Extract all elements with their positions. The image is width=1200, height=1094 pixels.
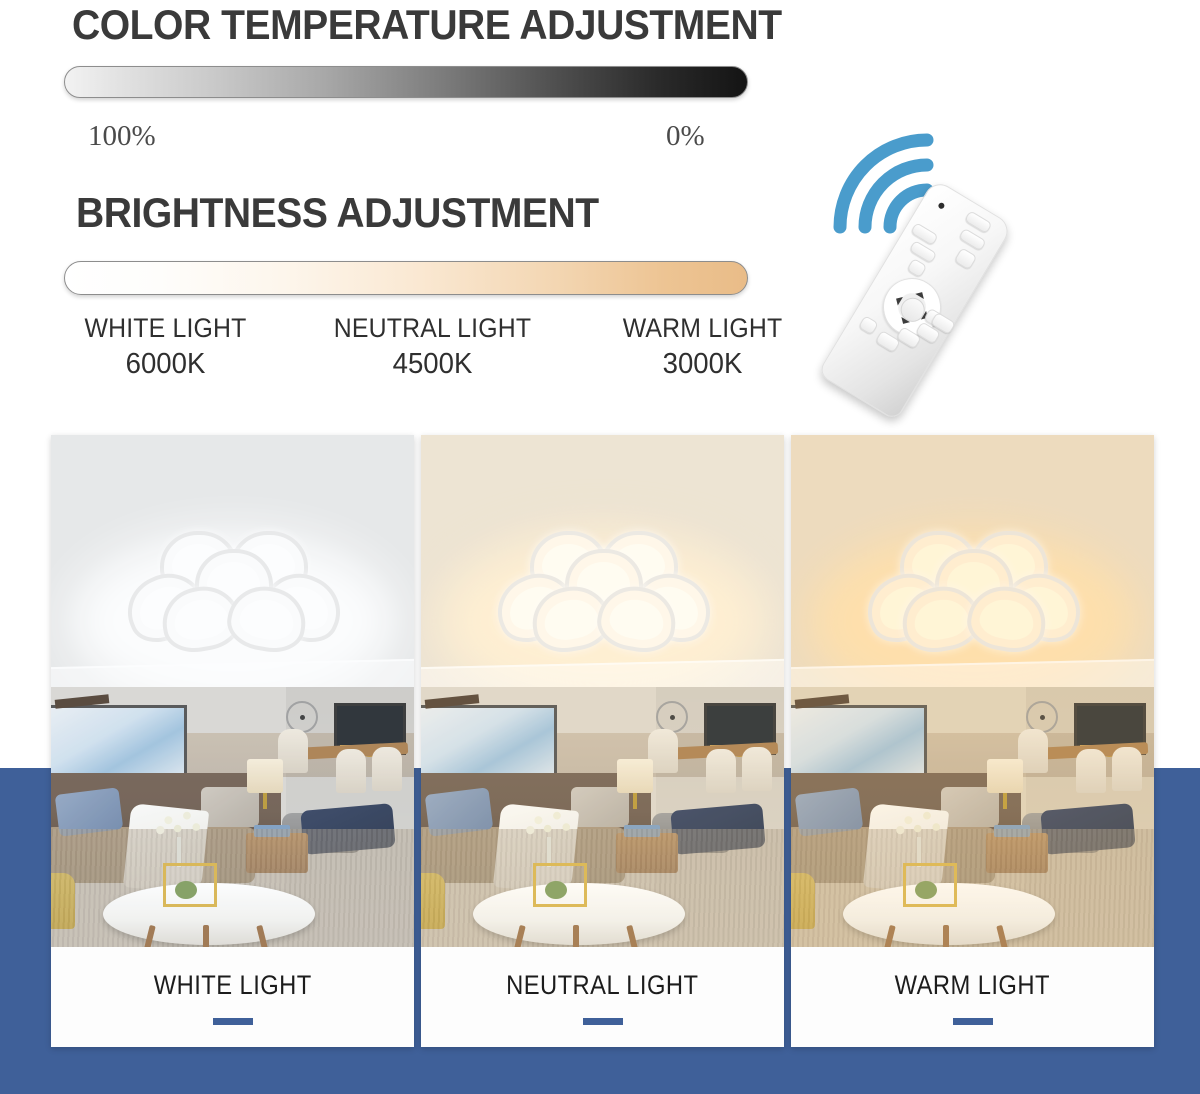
dining-chair — [336, 749, 366, 793]
dining-chair — [706, 749, 736, 793]
coffee-table-legs — [877, 925, 1017, 947]
card-caption-warm: WARM LIGHT — [791, 947, 1154, 1047]
light-label-neutral-name: NEUTRAL LIGHT — [315, 313, 550, 344]
caption-underline — [583, 1018, 623, 1025]
light-label-warm: WARM LIGHT 3000K — [600, 313, 805, 381]
flower-ceiling-lamp — [488, 531, 718, 659]
light-label-white: WHITE LIGHT 6000K — [58, 313, 273, 381]
flower-vase — [891, 805, 949, 867]
card-caption-neutral: NEUTRAL LIGHT — [421, 947, 784, 1047]
dining-set — [1018, 729, 1148, 807]
room-interior — [791, 687, 1154, 947]
table-lamp — [247, 759, 283, 793]
light-mode-card-neutral[interactable]: NEUTRAL LIGHT — [421, 435, 784, 1047]
room-interior — [421, 687, 784, 947]
color-temperature-value-right: 0% — [666, 120, 705, 153]
cushion-grey — [571, 787, 629, 827]
gold-lantern-decor — [903, 863, 957, 907]
scene-photo-warm-light — [791, 435, 1154, 947]
scene-photo-neutral-light — [421, 435, 784, 947]
flower-ceiling-lamp — [858, 531, 1088, 659]
remote-button-bright[interactable] — [906, 258, 927, 278]
light-mode-card-warm[interactable]: WARM LIGHT — [791, 435, 1154, 1047]
dining-chair — [372, 747, 402, 791]
light-label-white-name: WHITE LIGHT — [67, 313, 265, 344]
light-label-neutral-kelvin: 4500K — [311, 348, 553, 381]
dining-chair — [1076, 749, 1106, 793]
card-caption-white: WHITE LIGHT — [51, 947, 414, 1047]
flower-vase — [151, 805, 209, 867]
coffee-table-legs — [507, 925, 647, 947]
dining-chair — [1112, 747, 1142, 791]
coffee-table-legs — [137, 925, 277, 947]
dining-set — [648, 729, 778, 807]
remote-control-illustration — [810, 110, 1160, 430]
card-caption-label: WHITE LIGHT — [154, 970, 312, 1001]
card-caption-label: NEUTRAL LIGHT — [506, 970, 698, 1001]
gold-lantern-decor — [533, 863, 587, 907]
color-temperature-slider[interactable] — [64, 66, 748, 98]
light-label-white-kelvin: 6000K — [63, 348, 267, 381]
dining-set — [278, 729, 408, 807]
cushion-grey — [941, 787, 999, 827]
caption-underline — [213, 1018, 253, 1025]
light-mode-card-row: WHITE LIGHT — [0, 435, 1200, 1050]
caption-underline — [953, 1018, 993, 1025]
room-interior — [51, 687, 414, 947]
remote-ir-led-icon — [937, 202, 945, 210]
ceiling — [51, 435, 414, 697]
light-label-warm-kelvin: 3000K — [605, 348, 800, 381]
page-title-brightness: BRIGHTNESS ADJUSTMENT — [76, 190, 599, 236]
ceiling — [421, 435, 784, 697]
color-temperature-value-left: 100% — [88, 120, 156, 153]
flower-ceiling-lamp — [118, 531, 348, 659]
light-mode-card-white[interactable]: WHITE LIGHT — [51, 435, 414, 1047]
ceiling — [791, 435, 1154, 697]
scene-photo-white-light — [51, 435, 414, 947]
table-lamp — [617, 759, 653, 793]
flower-vase — [521, 805, 579, 867]
page-title-color-temperature: COLOR TEMPERATURE ADJUSTMENT — [72, 2, 782, 48]
remote-button-ch1[interactable] — [875, 330, 901, 353]
remote-arrow-up-icon[interactable] — [915, 285, 929, 299]
light-label-neutral: NEUTRAL LIGHT 4500K — [305, 313, 560, 381]
light-label-warm-name: WARM LIGHT — [608, 313, 797, 344]
gold-lantern-decor — [163, 863, 217, 907]
dining-chair — [742, 747, 772, 791]
table-lamp — [987, 759, 1023, 793]
cushion-grey — [201, 787, 259, 827]
remote-arrow-left-icon[interactable] — [889, 292, 903, 306]
infographic-panel: COLOR TEMPERATURE ADJUSTMENT 100% 0% BRI… — [0, 0, 1200, 435]
brightness-slider[interactable] — [64, 261, 748, 295]
card-caption-label: WARM LIGHT — [895, 970, 1050, 1001]
remote-button-night-mode[interactable] — [954, 247, 978, 270]
remote-button-warning[interactable] — [858, 315, 879, 335]
